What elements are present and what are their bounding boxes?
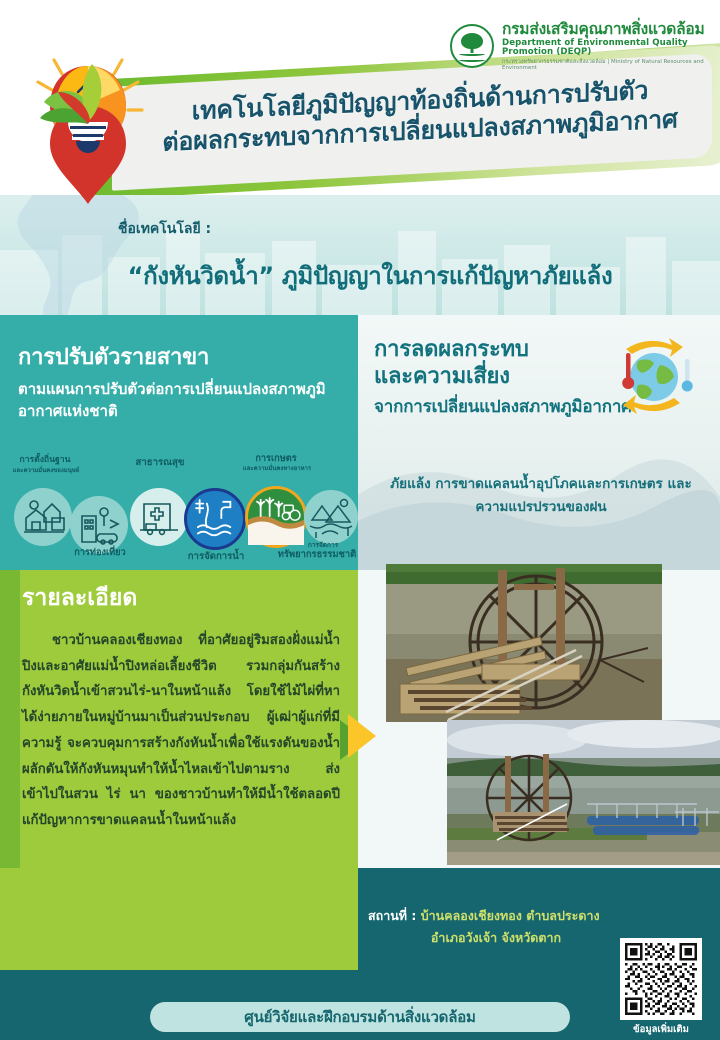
- sector-sublabel-natural-resources: ทรัพยากรธรรมชาติ: [276, 550, 358, 560]
- arrow-yellow-icon: [348, 714, 376, 758]
- qr-caption: ข้อมูลเพิ่มเติม: [612, 1022, 710, 1037]
- qr-code-container[interactable]: [620, 938, 702, 1020]
- org-ministry: กระทรวงทรัพยากรธรรมชาติและสิ่งแวดล้อม | …: [502, 59, 716, 71]
- details-body: ชาวบ้านคลองเชียงทอง ที่อาศัยอยู่ริมสองฝั…: [22, 628, 340, 834]
- sector-sublabel-settlement: และความมั่นคงของมนุษย์: [0, 468, 92, 474]
- technology-name: “กังหันวิดน้ำ” ภูมิปัญญาในการแก้ปัญหาภัย…: [40, 256, 700, 295]
- center-name-label: ศูนย์วิจัยและฝึกอบรมด้านสิ่งแวดล้อม: [244, 1005, 475, 1029]
- agriculture-field-tractor-icon: [248, 489, 304, 545]
- water-wheel-river-photo-2: [447, 720, 720, 865]
- mitigation-title-line1: การลดผลกระทบ: [374, 337, 529, 362]
- sector-label-agriculture: การเกษตร: [238, 454, 314, 464]
- settlement-houses-icon: [14, 488, 72, 546]
- center-name-pill[interactable]: ศูนย์วิจัยและฝึกอบรมด้านสิ่งแวดล้อม: [150, 1002, 570, 1032]
- deqp-logo: กรมส่งเสริมคุณภาพสิ่งแวดล้อม Department …: [450, 18, 716, 74]
- location-line1: บ้านคลองเชียงทอง ตำบลประดาง: [421, 908, 600, 923]
- sector-icon-tourism[interactable]: [70, 496, 128, 554]
- sector-icon-settlement[interactable]: [14, 488, 72, 546]
- sector-sublabel-agriculture: และความมั่นคงทางอาหาร: [228, 466, 326, 472]
- org-name-th: กรมส่งเสริมคุณภาพสิ่งแวดล้อม: [502, 21, 716, 38]
- sector-icon-water[interactable]: [184, 488, 246, 550]
- sector-label-water: การจัดการน้ำ: [176, 552, 256, 562]
- sector-icon-agriculture[interactable]: [245, 486, 307, 548]
- adaptation-title: การปรับตัวรายสาขา: [18, 339, 358, 374]
- risk-line2: ความแปรปรวนของฝน: [475, 499, 606, 515]
- water-wheel-river-photo-1: [386, 564, 662, 722]
- sector-icon-natural-resources[interactable]: [304, 490, 358, 544]
- sector-label-tourism: การท่องเที่ยว: [62, 548, 138, 558]
- deqp-emblem-icon: [450, 24, 494, 68]
- globe-thermometer-climate-icon: [598, 333, 706, 421]
- tourism-city-car-icon: [70, 496, 128, 554]
- poster-root: เทคโนโลยีภูมิปัญญาท้องถิ่นด้านการปรับตัว…: [0, 0, 720, 1040]
- natural-resources-mountain-icon: [304, 490, 358, 544]
- org-name-en: Department of Environmental Quality Prom…: [502, 39, 716, 58]
- sector-icon-health[interactable]: [130, 488, 188, 546]
- sector-label-health: สาธารณสุข: [124, 458, 196, 468]
- location-label: สถานที่ :: [368, 908, 416, 923]
- lightbulb-leaf-map-pin-icon: [18, 48, 158, 208]
- location-line2: อำเภอวังเจ้า จังหวัดตาก: [368, 927, 608, 949]
- adaptation-subtitle: ตามแผนการปรับตัวต่อการเปลี่ยนแปลงสภาพภูม…: [18, 379, 336, 423]
- footer-green-extension: [0, 868, 358, 970]
- mitigation-title-line2: และความเสี่ยง: [374, 364, 510, 389]
- qr-code-icon[interactable]: [625, 943, 697, 1015]
- sector-icons-row: การตั้งถิ่นฐาน และความมั่นคงของมนุษย์ กา…: [0, 448, 358, 568]
- location-block: สถานที่ : บ้านคลองเชียงทอง ตำบลประดาง อำ…: [368, 905, 608, 949]
- risk-line1: ภัยแล้ง การขาดแคลนน้ำอุปโภคและการเกษตร แ…: [390, 476, 691, 492]
- photo1-content: [386, 564, 662, 722]
- technology-label: ชื่อเทคโนโลยี :: [118, 218, 211, 240]
- sector-label-natural-resources: การจัดการ: [288, 542, 358, 549]
- water-management-faucet-river-icon: [187, 491, 243, 547]
- sector-label-settlement: การตั้งถิ่นฐาน: [6, 456, 84, 465]
- photo2-content: [447, 720, 720, 865]
- details-title: รายละเอียด: [22, 580, 137, 616]
- public-health-hospital-icon: [130, 488, 188, 546]
- risk-text: ภัยแล้ง การขาดแคลนน้ำอุปโภคและการเกษตร แ…: [376, 473, 706, 519]
- mitigation-panel: การลดผลกระทบ และความเสี่ยง จากการเปลี่ยน…: [358, 315, 720, 570]
